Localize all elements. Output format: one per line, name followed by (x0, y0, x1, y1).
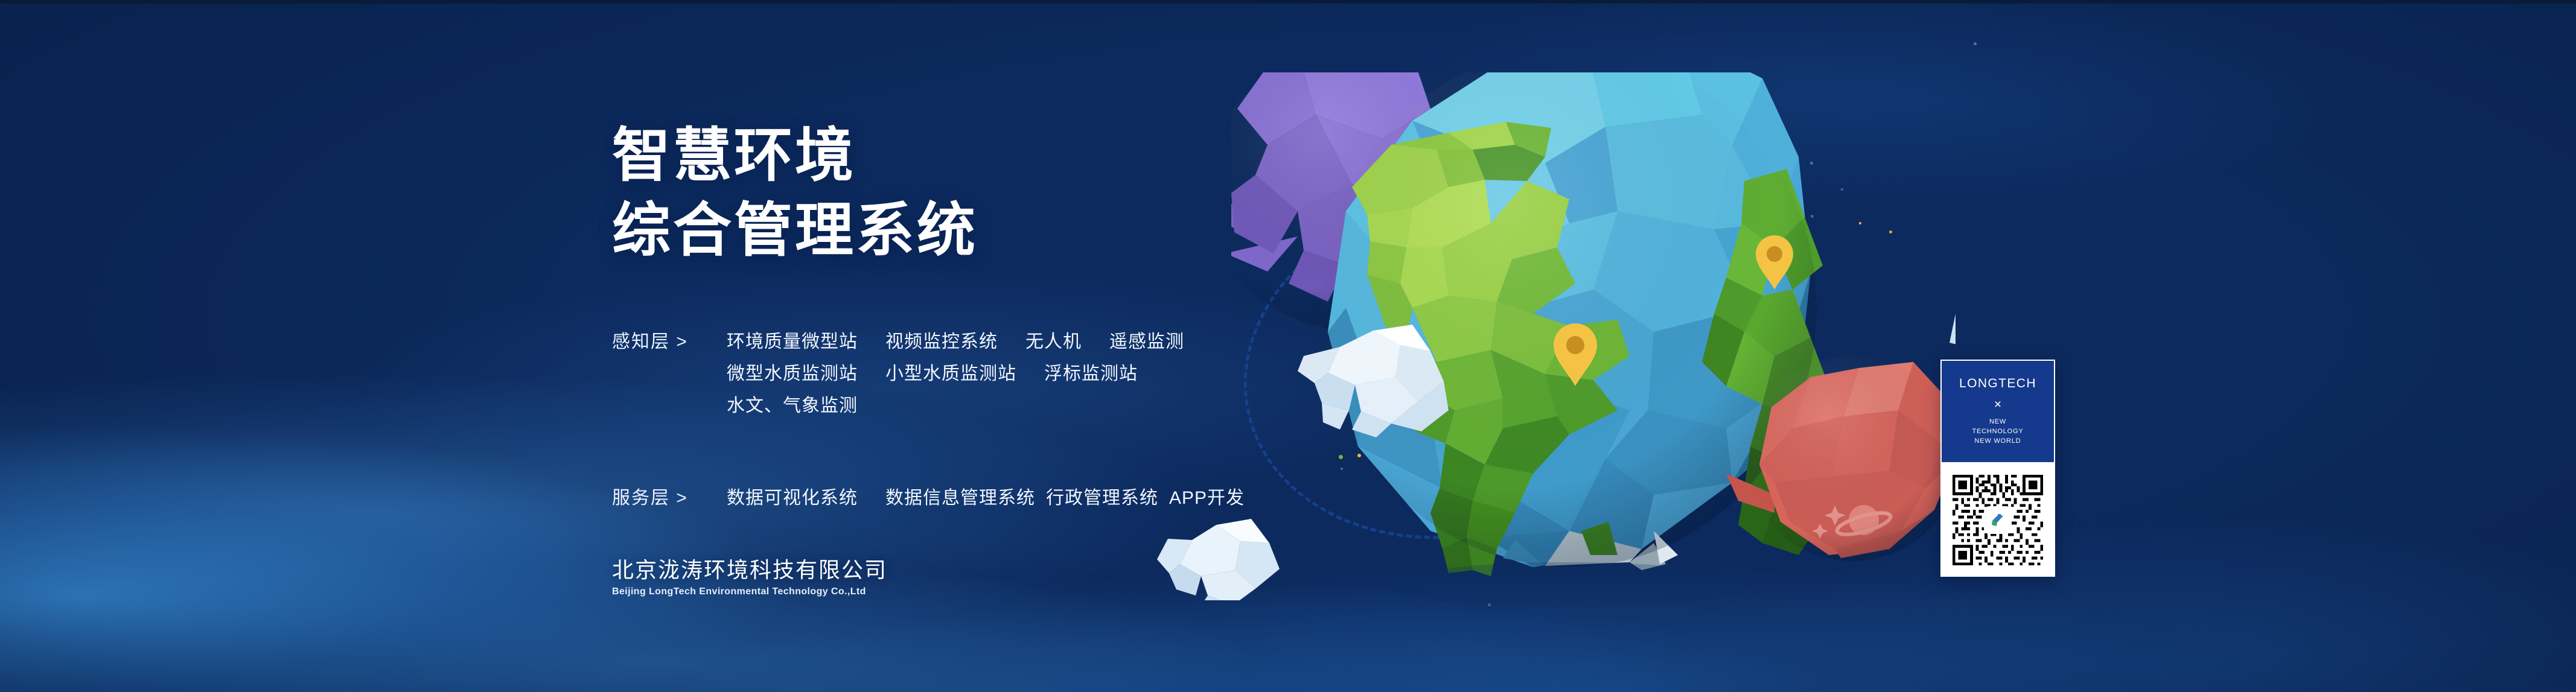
qr-card[interactable]: LONGTECH × NEW TECHNOLOGY NEW WORLD (1940, 360, 2055, 577)
layer-line: 微型水质监测站 小型水质监测站 浮标监测站 (727, 358, 1184, 390)
top-edge-bar (0, 0, 2576, 4)
layer-items-perception: 环境质量微型站 视频监控系统 无人机 遥感监测 微型水质监测站 小型水质监测站 … (727, 326, 1184, 422)
qr-card-body (1940, 463, 2055, 577)
qr-brand-label: LONGTECH (1959, 376, 2036, 391)
layer-item[interactable]: 视频监控系统 (885, 326, 998, 358)
layer-row-service: 服务层 > 数据可视化系统 数据信息管理系统 行政管理系统 APP开发 (612, 482, 1372, 514)
layer-items-service: 数据可视化系统 数据信息管理系统 行政管理系统 APP开发 (727, 482, 1245, 514)
qr-tagline-line-2: TECHNOLOGY (1972, 427, 2023, 437)
layer-label-perception: 感知层 > (612, 326, 727, 358)
cross-icon: × (1994, 398, 2001, 411)
hero-banner: 智慧环境 综合管理系统 感知层 > 环境质量微型站 视频监控系统 无人机 遥感监… (0, 0, 2576, 692)
qr-center-logo-icon (1985, 507, 2010, 533)
longtech-logo-mark (1989, 511, 2007, 529)
qr-tagline-line-3: NEW WORLD (1972, 437, 2023, 446)
layer-item[interactable]: APP开发 (1169, 482, 1245, 514)
layer-item[interactable]: 行政管理系统 (1046, 482, 1158, 514)
layer-item[interactable]: 水文、气象监测 (727, 390, 858, 422)
qr-tagline: NEW TECHNOLOGY NEW WORLD (1972, 417, 2023, 446)
layer-item[interactable]: 环境质量微型站 (727, 326, 858, 358)
layer-item[interactable]: 浮标监测站 (1044, 358, 1138, 390)
layer-item[interactable]: 数据可视化系统 (727, 482, 858, 514)
cloud-right-upper (1950, 267, 1956, 361)
layer-item[interactable]: 数据信息管理系统 (885, 482, 1035, 514)
company-signature: 北京泷涛环境科技有限公司 Beijing LongTech Environmen… (612, 553, 887, 597)
cloud-bottom (1150, 504, 1337, 600)
page-title-line-2: 综合管理系统 (612, 193, 1372, 268)
page-title-line-1: 智慧环境 (612, 118, 1372, 193)
layer-item[interactable]: 微型水质监测站 (727, 358, 858, 390)
layer-row-perception: 感知层 > 环境质量微型站 视频监控系统 无人机 遥感监测 微型水质监测站 小型… (612, 326, 1372, 422)
qr-tagline-line-1: NEW (1972, 417, 2023, 427)
layer-item[interactable]: 遥感监测 (1109, 326, 1184, 358)
layer-item[interactable]: 无人机 (1025, 326, 1082, 358)
layer-line: 环境质量微型站 视频监控系统 无人机 遥感监测 (727, 326, 1184, 358)
hero-copy: 智慧环境 综合管理系统 感知层 > 环境质量微型站 视频监控系统 无人机 遥感监… (612, 118, 1372, 514)
company-name-cn: 北京泷涛环境科技有限公司 (612, 553, 887, 584)
qr-code-icon[interactable] (1950, 472, 2046, 568)
layer-item[interactable]: 小型水质监测站 (885, 358, 1016, 390)
layer-line: 水文、气象监测 (727, 390, 1184, 422)
qr-card-header: LONGTECH × NEW TECHNOLOGY NEW WORLD (1940, 360, 2055, 463)
layer-line: 数据可视化系统 数据信息管理系统 行政管理系统 APP开发 (727, 482, 1245, 514)
company-name-en: Beijing LongTech Environmental Technolog… (612, 586, 887, 597)
star-dot (1974, 42, 1977, 45)
layer-list: 感知层 > 环境质量微型站 视频监控系统 无人机 遥感监测 微型水质监测站 小型… (612, 326, 1372, 514)
layer-label-service: 服务层 > (612, 482, 727, 514)
